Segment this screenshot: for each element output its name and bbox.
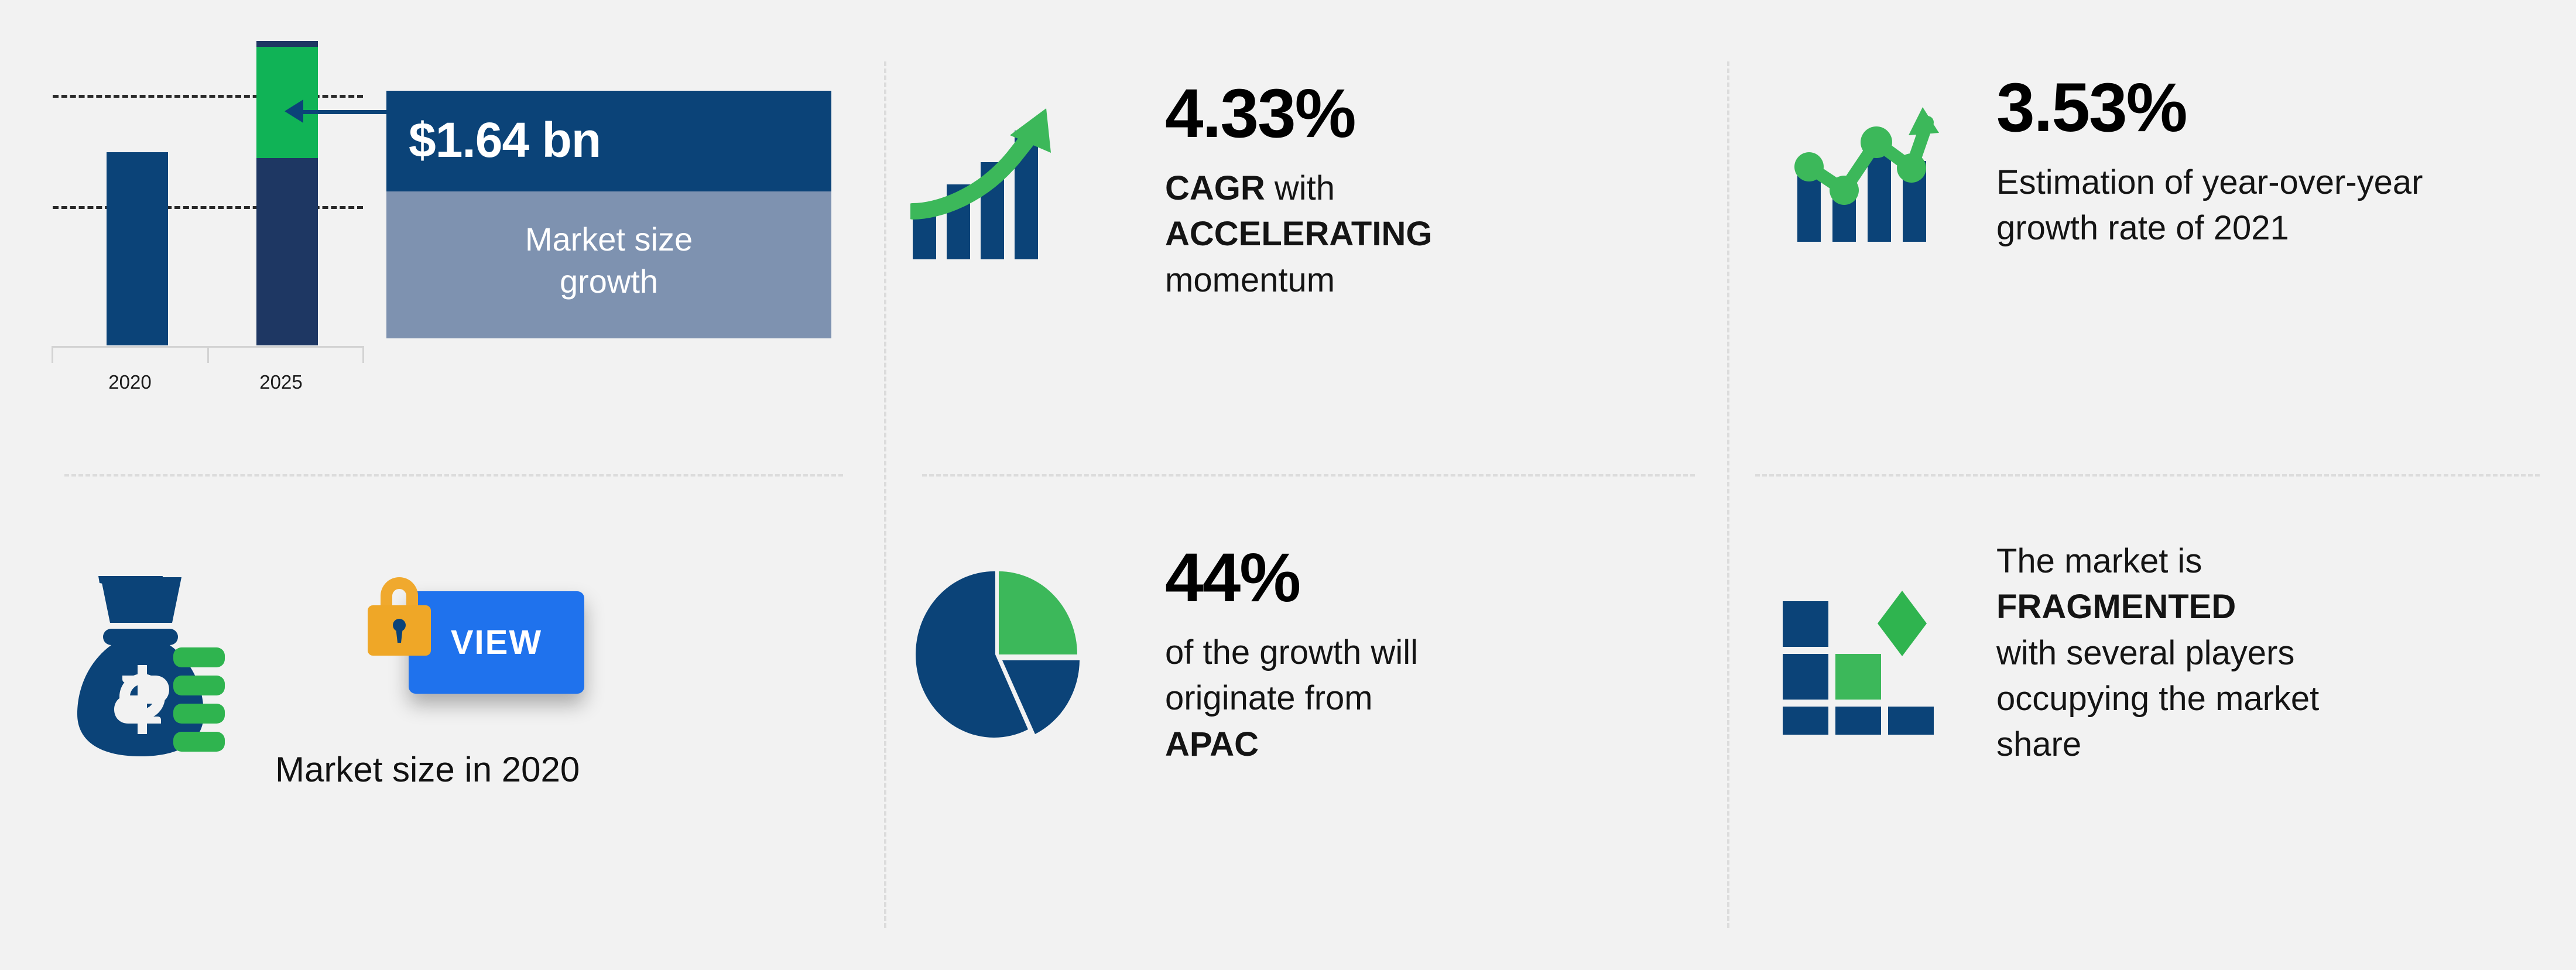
- axis-label-2025: 2025: [234, 371, 328, 393]
- cagr-text-block: 4.33% CAGR with ACCELERATING momentum: [1165, 79, 1692, 303]
- market-fragmentation-squares-icon: [1783, 582, 1952, 735]
- cagr-line-1: CAGR with: [1165, 166, 1692, 211]
- panel-market-size-2020: VIEW Market size in 2020: [0, 474, 878, 970]
- pie-chart-icon: [913, 562, 1083, 738]
- axis-tick-start: [52, 348, 53, 363]
- fragmentation-line-4: occupying the market: [1996, 676, 2523, 722]
- apac-line-2: originate from: [1165, 676, 1692, 721]
- fragmentation-line-1: The market is: [1996, 539, 2523, 584]
- cagr-bold-1: CAGR: [1165, 169, 1265, 207]
- callout-label-line2: growth: [410, 261, 808, 303]
- apac-line-1: of the growth will: [1165, 630, 1692, 676]
- cagr-line-2: ACCELERATING: [1165, 211, 1692, 257]
- apac-value: 44%: [1165, 543, 1692, 612]
- axis-tick-middle: [207, 348, 209, 363]
- axis-tick-end: [362, 348, 364, 363]
- fragmentation-line-5: share: [1996, 722, 2523, 767]
- left-arrow-icon: [285, 100, 303, 123]
- panel-yoy-growth: 3.53% Estimation of year-over-year growt…: [1727, 0, 2576, 474]
- axis-label-2020: 2020: [83, 371, 177, 393]
- view-button-group[interactable]: VIEW: [363, 561, 597, 736]
- apac-line-3: APAC: [1165, 722, 1692, 767]
- padlock-icon: [363, 567, 436, 660]
- cagr-line-1-rest: with: [1265, 169, 1335, 207]
- panel-market-size-growth: 2020 2025 $1.64 bn Market size growth: [0, 0, 878, 474]
- yoy-description: Estimation of year-over-year growth rate…: [1996, 160, 2512, 252]
- view-button-label: VIEW: [451, 623, 542, 662]
- arrow-shaft-icon: [299, 110, 392, 114]
- fragmentation-line-3: with several players: [1996, 630, 2523, 676]
- callout-label-line1: Market size: [410, 218, 808, 261]
- apac-bold: APAC: [1165, 725, 1259, 763]
- panel-fragmentation: The market is FRAGMENTED with several pl…: [1727, 474, 2576, 970]
- bar-2020: [107, 152, 168, 345]
- bar-chart-growth-arrow-icon: [910, 97, 1068, 261]
- yoy-value: 3.53%: [1996, 73, 2512, 142]
- infographic-board: 2020 2025 $1.64 bn Market size growth: [0, 0, 2576, 970]
- apac-text-block: 44% of the growth will originate from AP…: [1165, 543, 1692, 767]
- market-size-2020-caption: Market size in 2020: [275, 749, 802, 790]
- market-size-callout: $1.64 bn Market size growth: [386, 91, 831, 338]
- fragmentation-line-2: FRAGMENTED: [1996, 584, 2523, 630]
- panel-cagr: 4.33% CAGR with ACCELERATING momentum: [884, 0, 1727, 474]
- fragmentation-description: The market is FRAGMENTED with several pl…: [1996, 539, 2523, 767]
- cagr-line-3: momentum: [1165, 258, 1692, 303]
- yoy-text-block: 3.53% Estimation of year-over-year growt…: [1996, 73, 2512, 252]
- cagr-value: 4.33%: [1165, 79, 1692, 148]
- cagr-bold-2: ACCELERATING: [1165, 215, 1432, 253]
- callout-value: $1.64 bn: [386, 91, 831, 191]
- panel-apac-growth: 44% of the growth will originate from AP…: [884, 474, 1727, 970]
- bar-chart-line-trend-icon: [1791, 102, 1950, 243]
- money-bag-icon: [59, 573, 228, 760]
- callout-arrow: [281, 100, 392, 123]
- apac-description: of the growth will originate from APAC: [1165, 630, 1692, 767]
- cagr-description: CAGR with ACCELERATING momentum: [1165, 166, 1692, 303]
- market-size-bar-chart: 2020 2025: [35, 82, 363, 398]
- callout-label: Market size growth: [386, 191, 831, 338]
- fragmentation-bold: FRAGMENTED: [1996, 588, 2236, 626]
- fragmentation-text-block: The market is FRAGMENTED with several pl…: [1996, 539, 2523, 767]
